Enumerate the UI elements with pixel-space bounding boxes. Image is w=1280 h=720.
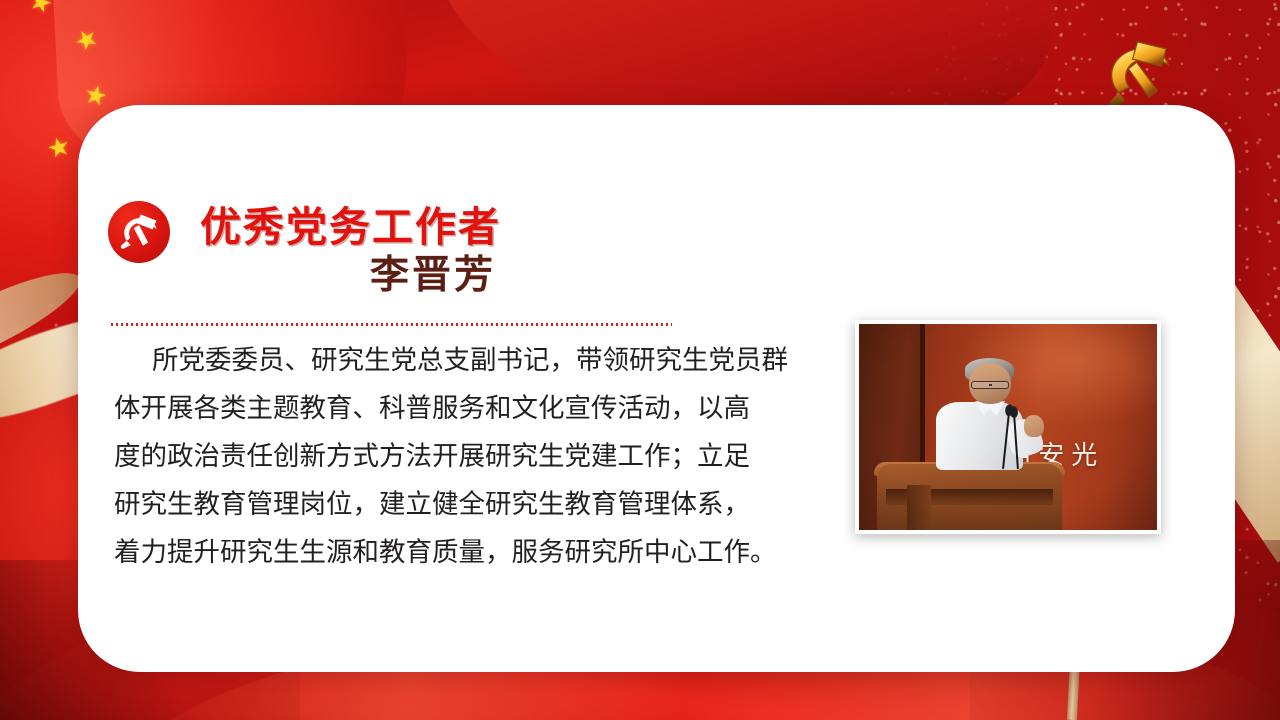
- photo-vignette: [859, 324, 1157, 530]
- slide-stage: ★ ★ ★ ★ ★: [0, 0, 1280, 720]
- flag-star-small-4-icon: ★: [44, 132, 73, 163]
- biography-line: 体开展各类主题教育、科普服务和文化宣传活动，以高: [114, 385, 874, 433]
- content-card: 优秀党务工作者 李晋芳 所党委委员、研究生党总支副书记，带领研究生党员群 体开展…: [78, 105, 1235, 672]
- biography-line: 着力提升研究生生源和教育质量，服务研究所中心工作。: [114, 529, 874, 577]
- party-emblem-hammer-sickle-icon: [108, 201, 170, 263]
- speaker-photo: 院西安光: [855, 320, 1161, 534]
- biography-line: 研究生教育管理岗位，建立健全研究生教育管理体系，: [114, 481, 874, 529]
- person-name: 李晋芳: [370, 244, 496, 300]
- gold-party-emblem-icon: [1092, 28, 1202, 112]
- dotted-divider: [111, 323, 672, 326]
- card-header: 优秀党务工作者 李晋芳: [108, 193, 748, 323]
- speaker-photo-image: 院西安光: [859, 324, 1157, 530]
- biography-text: 所党委委员、研究生党总支副书记，带领研究生党员群 体开展各类主题教育、科普服务和…: [114, 337, 874, 577]
- biography-line: 所党委委员、研究生党总支副书记，带领研究生党员群: [114, 337, 874, 385]
- biography-line: 度的政治责任创新方式方法开展研究生党建工作；立足: [114, 433, 874, 481]
- flag-star-small-1-icon: ★: [26, 0, 57, 18]
